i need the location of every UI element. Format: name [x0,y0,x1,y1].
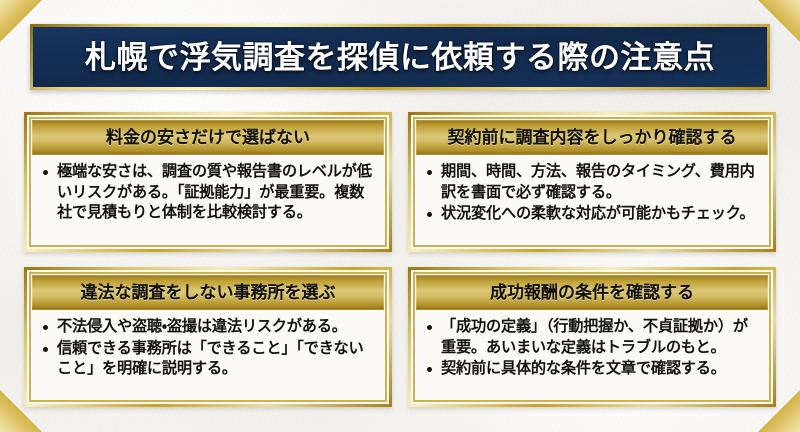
tip-card-1: 料金の安さだけで選ばない 極端な安さは、調査の質や報告書のレベルが低いリスクがあ… [24,112,392,252]
tip-card-2-header: 契約前に調査内容をしっかり確認する [416,120,768,155]
list-item: 信頼できる事務所は「できること」「できないこと」を明確に説明する。 [39,339,377,380]
title-banner: 札幌で浮気調査を探偵に依頼する際の注意点 [30,24,770,90]
tip-card-4-body: 「成功の定義」（行動把握か、不貞証拠か）が重要。あいまいな定義はトラブルのもと。… [417,310,767,399]
tip-card-4-header: 成功報酬の条件を確認する [416,275,768,310]
page-title: 札幌で浮気調査を探偵に依頼する際の注意点 [85,42,715,73]
tip-card-1-header: 料金の安さだけで選ばない [32,120,384,155]
tip-card-4-bullet-list: 「成功の定義」（行動把握か、不貞証拠か）が重要。あいまいな定義はトラブルのもと。… [423,317,761,380]
list-item: 不法侵入や盗聴・盗撮は違法リスクがある。 [39,317,377,338]
tip-card-1-bullet-list: 極端な安さは、調査の質や報告書のレベルが低いリスクがある。「証拠能力」が最重要。… [39,162,377,224]
tip-card-3-body: 不法侵入や盗聴・盗撮は違法リスクがある。 信頼できる事務所は「できること」「でき… [33,310,383,399]
tip-card-3-header: 違法な調査をしない事務所を選ぶ [32,275,384,310]
slide-canvas: 札幌で浮気調査を探偵に依頼する際の注意点 料金の安さだけで選ばない 極端な安さは… [0,0,800,432]
list-item: 「成功の定義」（行動把握か、不貞証拠か）が重要。あいまいな定義はトラブルのもと。 [423,317,761,358]
tips-card-grid: 料金の安さだけで選ばない 極端な安さは、調査の質や報告書のレベルが低いリスクがあ… [24,112,776,407]
tip-card-2-title: 契約前に調査内容をしっかり確認する [448,129,737,146]
list-item: 期間、時間、方法、報告のタイミング、費用内訳を書面で必ず確認する。 [423,162,761,203]
list-item: 極端な安さは、調査の質や報告書のレベルが低いリスクがある。「証拠能力」が最重要。… [39,162,377,224]
tip-card-2-body: 期間、時間、方法、報告のタイミング、費用内訳を書面で必ず確認する。 状況変化への… [417,155,767,244]
tip-card-3-bullet-list: 不法侵入や盗聴・盗撮は違法リスクがある。 信頼できる事務所は「できること」「でき… [39,317,377,380]
tip-card-1-title: 料金の安さだけで選ばない [106,129,310,146]
tip-card-1-body: 極端な安さは、調査の質や報告書のレベルが低いリスクがある。「証拠能力」が最重要。… [33,155,383,244]
list-item: 状況変化への柔軟な対応が可能かもチェック。 [423,204,761,225]
tip-card-4-title: 成功報酬の条件を確認する [490,284,694,301]
tip-card-2-bullet-list: 期間、時間、方法、報告のタイミング、費用内訳を書面で必ず確認する。 状況変化への… [423,162,761,225]
tip-card-3: 違法な調査をしない事務所を選ぶ 不法侵入や盗聴・盗撮は違法リスクがある。 信頼で… [24,267,392,407]
tip-card-2: 契約前に調査内容をしっかり確認する 期間、時間、方法、報告のタイミング、費用内訳… [408,112,776,252]
list-item: 契約前に具体的な条件を文章で確認する。 [423,359,761,380]
tip-card-3-title: 違法な調査をしない事務所を選ぶ [81,284,336,301]
tip-card-4: 成功報酬の条件を確認する 「成功の定義」（行動把握か、不貞証拠か）が重要。あいま… [408,267,776,407]
